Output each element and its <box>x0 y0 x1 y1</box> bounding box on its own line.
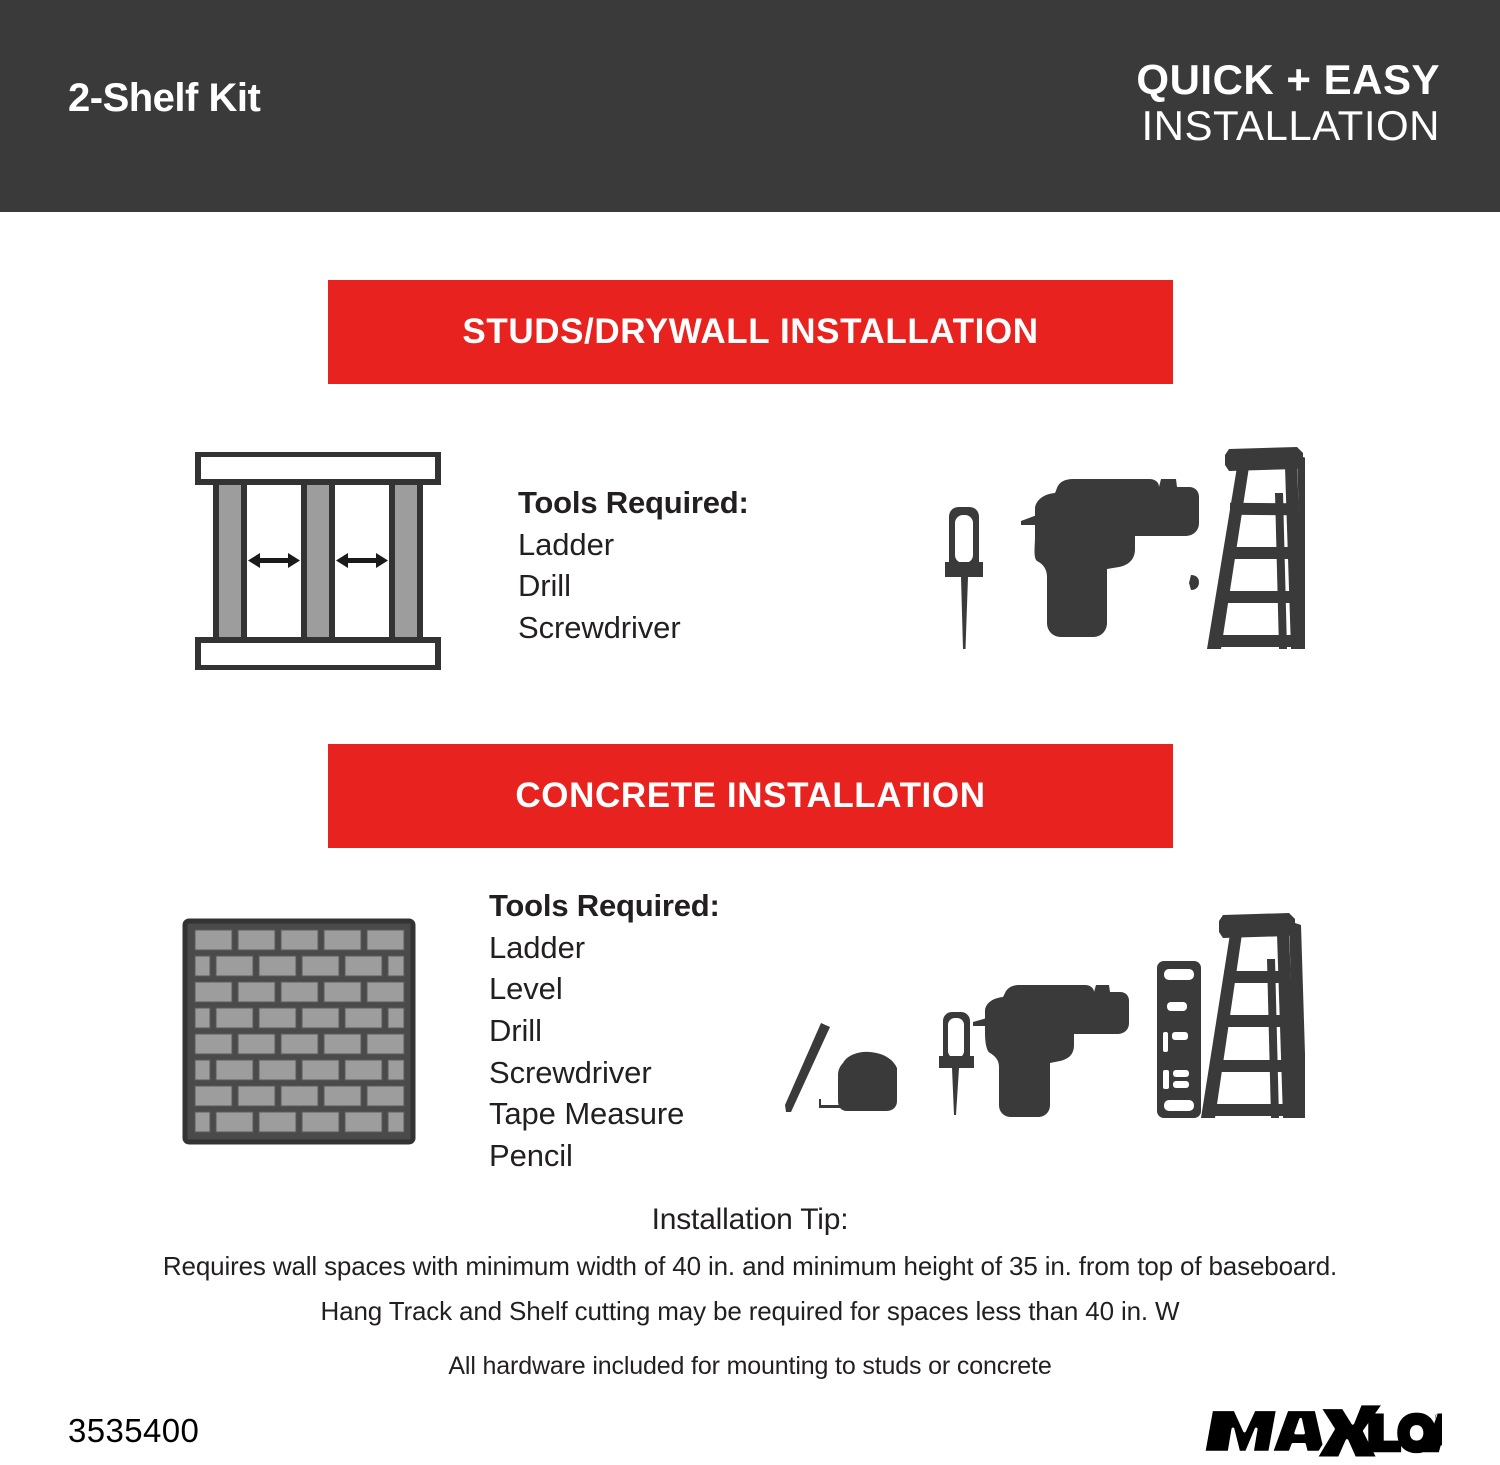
tools-required-concrete: Tools Required: Ladder Level Drill Screw… <box>489 886 720 1176</box>
tool-item-tape-measure: Tape Measure <box>489 1093 720 1135</box>
drill-icon <box>973 985 1129 1117</box>
screwdriver-icon <box>939 1012 974 1115</box>
installation-instruction-sheet: 2-Shelf Kit QUICK + EASY INSTALLATION ST… <box>0 0 1500 1465</box>
stud-wall-diagram <box>194 452 442 670</box>
screwdriver-icon <box>945 507 983 649</box>
tool-item-ladder: Ladder <box>518 524 749 566</box>
page-header: 2-Shelf Kit QUICK + EASY INSTALLATION <box>0 0 1500 212</box>
maxload-logo-svg: ® <box>1194 1400 1442 1458</box>
part-number: 3535400 <box>68 1412 199 1450</box>
logo-max-wordmark <box>1204 1404 1384 1458</box>
tool-item-pencil: Pencil <box>489 1135 720 1177</box>
tool-icons-svg-studs <box>893 437 1305 657</box>
tool-item-drill: Drill <box>489 1010 720 1052</box>
spacing-arrow-right <box>336 553 388 568</box>
section-banner-concrete: CONCRETE INSTALLATION <box>328 744 1173 848</box>
drill-icon <box>1021 479 1199 637</box>
banner-label: CONCRETE INSTALLATION <box>515 776 985 816</box>
pencil-icon <box>785 1023 830 1112</box>
tagline-line-1: QUICK + EASY <box>1136 58 1440 102</box>
header-tagline: QUICK + EASY INSTALLATION <box>1136 58 1440 149</box>
tool-item-level: Level <box>489 968 720 1010</box>
page-title: 2-Shelf Kit <box>68 78 260 118</box>
banner-label: STUDS/DRYWALL INSTALLATION <box>462 312 1038 352</box>
tagline-line-2: INSTALLATION <box>1136 102 1440 149</box>
tape-measure-icon <box>819 1052 897 1111</box>
ladder-icon <box>1201 913 1305 1118</box>
tool-icons-svg-concrete <box>775 905 1305 1137</box>
stud-wall-svg <box>194 452 442 670</box>
hardware-included-note: All hardware included for mounting to st… <box>0 1352 1500 1381</box>
logo-registered-mark: ® <box>1435 1411 1442 1421</box>
tools-required-heading: Tools Required: <box>489 886 720 927</box>
tool-item-drill: Drill <box>518 565 749 607</box>
tool-icon-row-concrete <box>775 905 1305 1137</box>
level-icon <box>1157 961 1201 1118</box>
installation-tip-block: Installation Tip: Requires wall spaces w… <box>0 1203 1500 1327</box>
tool-item-screwdriver: Screwdriver <box>518 607 749 649</box>
section-banner-studs-drywall: STUDS/DRYWALL INSTALLATION <box>328 280 1173 384</box>
installation-tip-heading: Installation Tip: <box>0 1203 1500 1237</box>
maxload-logo: ® <box>1194 1400 1442 1458</box>
tools-required-heading: Tools Required: <box>518 483 749 524</box>
ladder-icon <box>1207 447 1305 649</box>
tool-item-ladder: Ladder <box>489 927 720 969</box>
brick-wall-diagram <box>182 918 416 1145</box>
brick-wall-svg <box>182 918 416 1145</box>
tool-icon-row-studs <box>893 437 1305 657</box>
installation-tip-line-2: Hang Track and Shelf cutting may be requ… <box>0 1296 1500 1327</box>
tool-item-screwdriver: Screwdriver <box>489 1052 720 1094</box>
spacing-arrow-left <box>248 553 300 568</box>
installation-tip-line-1: Requires wall spaces with minimum width … <box>0 1251 1500 1282</box>
logo-load-wordmark <box>1368 1413 1442 1454</box>
tools-required-studs: Tools Required: Ladder Drill Screwdriver <box>518 483 749 649</box>
